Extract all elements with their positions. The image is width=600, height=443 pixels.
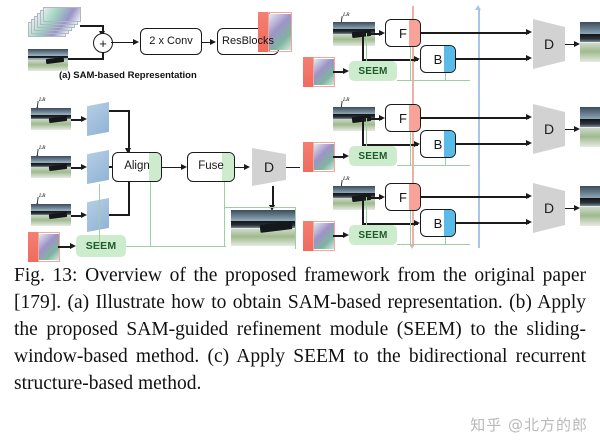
seem-feed-left-c3 [366,197,367,225]
figure-caption: Fig. 13: Overview of the proposed framew… [0,262,600,443]
frame-label-sup: LR [39,145,46,151]
panel-a-caption: (a) SAM-based Representation [59,70,197,81]
forward-block-c1: F [385,19,421,47]
arrow-b-c3-to-dec [526,219,532,225]
arrow-b-c2-to-dec [526,140,532,146]
forward-block-c3: F [385,183,421,211]
feature-slab-1 [87,102,109,136]
figure-image: + 2 x Conv ResBlocks (a) SAM-based Repre… [0,0,600,262]
line-decoder-out [286,167,300,169]
backward-block-label: B [421,53,455,66]
forward-block-label: F [386,191,420,204]
hr-output-c2 [580,107,600,147]
arrow-f-c3-to-dec [526,193,532,199]
line-b-c3-to-dec [456,222,529,224]
decoder-block-c3: D [533,183,565,233]
fuse-block: Fuse [187,152,235,182]
decoder-label: D [544,200,554,216]
fuse-block-label: Fuse [188,161,234,173]
seem-bus-horizontal [126,246,226,247]
forward-block-label: F [386,112,420,125]
decoder-block-b: D [252,148,286,186]
caption-text: Fig. 13: Overview of the proposed framew… [0,262,600,397]
seem-feed-left-c2 [366,118,367,146]
seem-feed-f-c1 [410,47,411,80]
frame-label-sup: LR [343,176,350,182]
backward-propagation-bus [478,10,480,248]
line-slab1-down [128,110,130,152]
seem-feed-f-c2 [410,132,411,165]
line-frame-c1-down [362,33,364,60]
sam-representation-cube-c1 [303,57,335,87]
feature-slab-3 [87,198,109,232]
arrow-f-c2-to-dec [526,114,532,120]
lr-frame-thumbnail-t-minus-1 [31,108,71,130]
feature-slab-2 [87,150,109,184]
hr-output-c3 [580,186,600,226]
hr-output-c1 [580,22,600,62]
add-operator-label: + [99,36,107,51]
arrow-plus-to-conv [133,39,139,45]
align-block: Align [112,152,162,182]
lr-frame-thumbnail [28,49,68,71]
forward-block-c2: F [385,104,421,132]
forward-block-label: F [386,27,420,40]
decoder-label: D [264,159,274,175]
panel-b: ILRt-1 ILRt [0,88,300,262]
seem-feed-align [150,182,151,246]
seem-block-label: SEEM [86,240,117,252]
seem-feed-left-c1 [366,33,367,61]
seem-block-label: SEEM [358,151,387,162]
line-b-c1-to-dec [456,58,529,60]
add-operator: + [93,33,113,53]
line-b-c2-to-dec [456,143,529,145]
backward-block-c2: B [420,130,456,158]
frame-label-sup: LR [39,193,46,199]
sam-representation-cube-b [28,232,60,262]
frame-label-sup: LR [343,97,350,103]
line-frame-c3-down [362,197,364,224]
hr-output-thumbnail-b [231,210,295,246]
seem-bus-c2 [397,165,470,166]
lr-frame-thumbnail-t [31,156,71,178]
line-plus-to-conv [111,42,135,44]
seem-feed-b-c2 [445,158,446,165]
conv-block-label: 2 x Conv [141,36,201,47]
seem-feed-b-c1 [445,73,446,80]
seem-bus-c3 [397,244,470,245]
seem-feed-slab [99,184,100,246]
sam-representation-cube-c3 [303,221,335,251]
line-frame-c2-down [362,118,364,145]
seem-bus-to-output [224,207,296,208]
sam-mask-stack [28,8,84,44]
decoder-label: D [544,121,554,137]
seem-block-label: SEEM [358,230,387,241]
panel-a: + 2 x Conv ResBlocks (a) SAM-based Repre… [0,0,300,88]
arrow-conv-to-res [210,39,216,45]
seem-output-border-right [295,207,296,249]
line-slab3-up [128,180,130,215]
arrow-fuse-to-decoder [244,164,250,170]
watermark: 知乎 @北方的郎 [470,414,588,435]
align-block-label: Align [113,161,161,173]
seem-feed-f-c3 [410,211,411,244]
frame-label-sup: LR [343,12,350,18]
line-f-c3-to-dec [421,196,529,198]
seem-block-c1: SEEM [349,61,397,81]
backward-block-label: B [421,217,455,230]
line-stack-to-plus [80,25,104,27]
backward-block-c1: B [420,45,456,73]
seem-bus-c1 [397,80,470,81]
decoder-block-c2: D [533,104,565,154]
seem-block-c2: SEEM [349,146,397,166]
seem-feed-b-c3 [445,237,446,244]
panel-c: ILRt-1 F B D [300,0,600,262]
sam-representation-cube-c2 [303,142,335,172]
conv-block: 2 x Conv [140,28,202,55]
frame-label-sup: LR [39,97,46,103]
backward-block-label: B [421,138,455,151]
line-f-c2-to-dec [421,117,529,119]
line-photo-to-plus [68,58,104,60]
seem-block-label: SEEM [358,66,387,77]
line-slab3-out [109,214,130,216]
seem-block-c3: SEEM [349,225,397,245]
backward-block-c3: B [420,209,456,237]
line-slab1-out [109,110,130,112]
lr-frame-thumbnail-t-plus-1 [31,204,71,226]
line-f-c1-to-dec [421,32,529,34]
backward-propagation-arrow [475,5,481,10]
seem-block-b: SEEM [76,235,126,257]
seem-bus-output-riser [224,207,225,246]
figure-page: + 2 x Conv ResBlocks (a) SAM-based Repre… [0,0,600,443]
resblocks-block-label: ResBlocks [218,36,278,47]
